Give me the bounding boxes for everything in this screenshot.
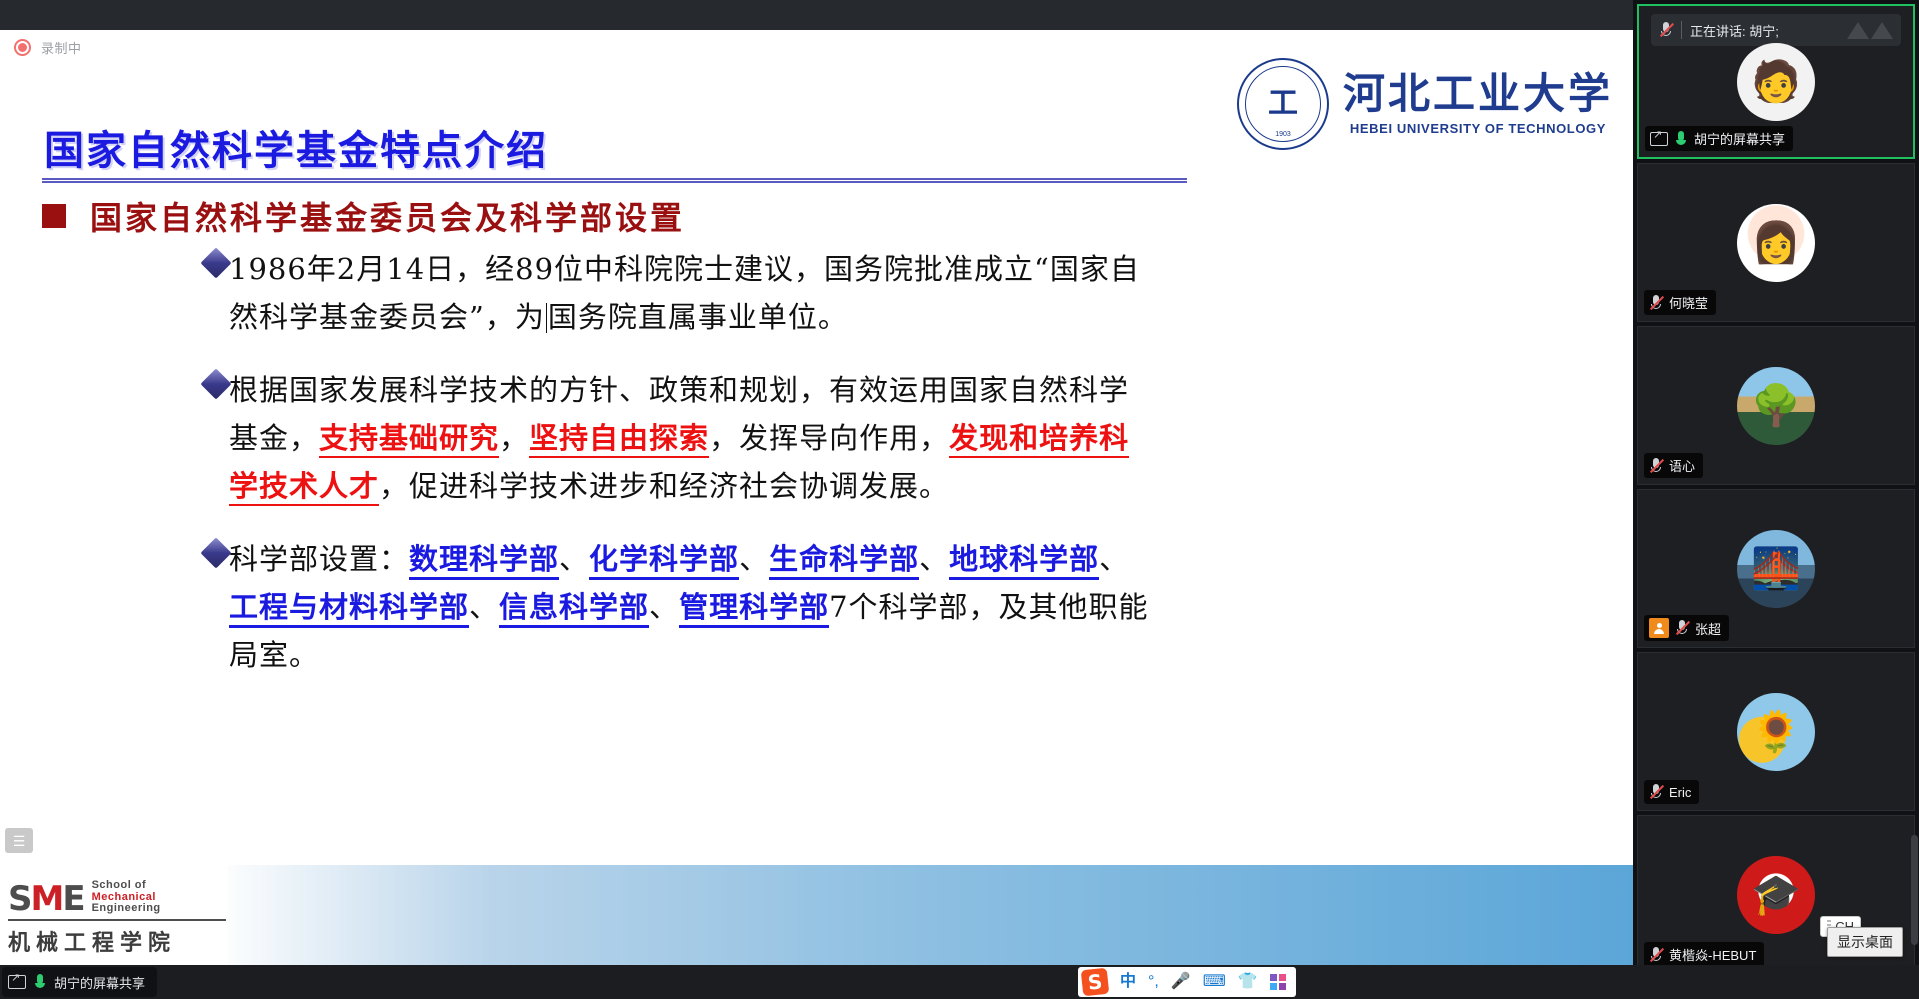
participant-tile[interactable]: 🌳语心 [1637,326,1915,485]
university-seal-icon: 工 1903 [1237,58,1329,150]
sme-letter-s: S [8,879,31,919]
section-heading: 国家自然科学基金委员会及科学部设置 [42,193,685,239]
participant-name-chip: 张超 [1644,615,1729,641]
menu-lines-icon: ☰ [13,834,26,848]
microphone-muted-icon [1649,783,1663,801]
bullet-text: 根据国家发展科学技术的方针、政策和规划，有效运用国家自然科学基金，支持基础研究，… [229,366,1155,510]
participant-name-chip: 黄楷焱-HEBUT [1644,942,1764,967]
microphone-muted-icon [1659,21,1673,39]
university-logo: 工 1903 河北工业大学 HEBEI UNIVERSITY OF TECHNO… [1237,58,1613,150]
participant-tile[interactable]: 正在讲话: 胡宁;🧑胡宁的屏幕共享 [1637,4,1915,159]
avatar-glyph: 🧑 [1737,43,1815,121]
university-name-cn: 河北工业大学 [1343,72,1613,116]
school-logo: SME School of Mechanical Engineering 机械工… [8,880,226,957]
emphasis-blue-link: 地球科学部 [949,542,1099,580]
participant-name-chip: Eric [1644,780,1699,804]
university-name-en: HEBEI UNIVERSITY OF TECHNOLOGY [1350,121,1606,136]
avatar: 👩 [1737,204,1815,282]
ime-skin-icon[interactable]: 👕 [1238,974,1258,990]
participant-name: 胡宁的屏幕共享 [1694,129,1785,148]
plain-text: 国务院直属事业单位。 [548,300,848,334]
emphasis-blue-link: 化学科学部 [589,542,739,580]
rail-scrollbar[interactable] [1911,835,1918,945]
participant-tile[interactable]: 🌉张超 [1637,489,1915,648]
bullet-2: 根据国家发展科学技术的方针、政策和规划，有效运用国家自然科学基金，支持基础研究，… [205,366,1155,510]
taskbar[interactable]: 胡宁的屏幕共享 S 中 °, 🎤 ⌨ 👕 [0,965,1919,999]
microphone-muted-icon [1649,457,1663,475]
sme-letter-e: E [62,879,83,919]
emphasis-red-text: 坚持自由探索 [529,421,709,458]
avatar: 🎓 [1737,856,1815,934]
participant-name: 黄楷焱-HEBUT [1669,945,1756,964]
screen-share-icon [1650,132,1668,146]
avatar: 🌻 [1737,693,1815,771]
sogou-logo-icon[interactable]: S [1081,968,1110,997]
participant-tile[interactable]: 🌻Eric [1637,652,1915,811]
plain-text: ， [499,421,529,455]
screen: 录制中 工 1903 河北工业大学 HEBEI UNIVERSITY OF TE… [0,0,1919,999]
plain-text: 、 [1099,542,1129,576]
plain-text: 、 [649,590,679,624]
participant-name-chip: 语心 [1644,453,1703,478]
sme-letter-m: M [31,879,63,919]
participant-tile[interactable]: 👩何晓莹 [1637,163,1915,322]
plain-text: ，发挥导向作用， [709,421,949,455]
speaking-banner: 正在讲话: 胡宁; [1651,14,1901,46]
bullet-text: 1986年2月14日，经89位中科院院士建议，国务院批准成立“国家自然科学基金委… [229,245,1155,341]
diamond-bullet-icon [200,537,231,568]
ime-mode-icon[interactable]: 中 [1120,974,1136,990]
emphasis-red-text: 支持基础研究 [319,421,499,458]
section-heading-text: 国家自然科学基金委员会及科学部设置 [90,193,685,239]
plain-text: ，促进科学技术进步和经济社会协调发展。 [379,469,949,503]
audio-wave-icon [1847,22,1893,39]
speaking-label: 正在讲话: 胡宁; [1690,21,1779,40]
sogou-ime-toolbar[interactable]: S 中 °, 🎤 ⌨ 👕 [1078,967,1296,997]
microphone-muted-icon [1649,294,1663,312]
recording-indicator: 录制中 [14,38,82,57]
text-cursor [546,303,547,333]
participant-rail[interactable]: 正在讲话: 胡宁;🧑胡宁的屏幕共享👩何晓莹🌳语心🌉张超🌻Eric🎓黄楷焱-HEB… [1633,0,1919,965]
microphone-muted-icon [1649,946,1663,964]
sme-monogram-icon: SME [8,882,84,916]
microphone-muted-icon [1675,619,1689,637]
microphone-icon [33,973,47,991]
school-line-3: Engineering [92,903,161,914]
plain-text: 、 [919,542,949,576]
seal-year-text: 1903 [1239,131,1327,138]
slide-title: 国家自然科学基金特点介绍 [44,118,548,176]
diamond-bullet-icon [200,368,231,399]
participant-name-chip: 何晓莹 [1644,290,1716,315]
window-top-strip [0,0,1633,30]
slide-footer-band [0,865,1633,965]
emphasis-blue-link: 工程与材料科学部 [229,590,469,628]
participant-name: Eric [1669,785,1691,800]
participant-name-chip: 胡宁的屏幕共享 [1645,126,1793,151]
avatar: 🌉 [1737,530,1815,608]
plain-text: 、 [469,590,499,624]
taskbar-item-label: 胡宁的屏幕共享 [54,973,145,992]
divider [1681,21,1682,39]
plain-text: 科学部设置： [229,542,409,576]
slide-body: 1986年2月14日，经89位中科院院士建议，国务院批准成立“国家自然科学基金委… [205,245,1155,704]
avatar-glyph: 🌻 [1737,693,1815,771]
emphasis-blue-link: 数理科学部 [409,542,559,580]
microphone-icon [1674,130,1688,148]
ime-apps-icon[interactable] [1270,974,1286,990]
plain-text: 、 [739,542,769,576]
emphasis-blue-link: 信息科学部 [499,590,649,628]
presentation-menu-button[interactable]: ☰ [5,828,33,853]
seal-mark-text: 工 [1268,89,1298,119]
participant-name: 语心 [1669,456,1695,475]
bullet-text: 科学部设置：数理科学部、化学科学部、生命科学部、地球科学部、工程与材料科学部、信… [229,535,1155,679]
avatar-glyph: 🎓 [1737,856,1815,934]
show-desktop-tooltip: 显示桌面 [1827,927,1903,957]
school-name-cn: 机械工程学院 [8,919,226,957]
ime-keyboard-icon[interactable]: ⌨ [1203,974,1226,990]
taskbar-item-screenshare[interactable]: 胡宁的屏幕共享 [2,967,157,997]
title-divider [42,178,1187,183]
participant-name: 张超 [1695,619,1721,638]
avatar-glyph: 🌳 [1737,367,1815,445]
school-line-1: School of [92,880,161,891]
emphasis-blue-link: 管理科学部 [679,590,829,628]
record-dot-icon [14,39,31,56]
avatar-glyph: 🌉 [1737,530,1815,608]
ime-punctuation-icon[interactable]: °, [1148,974,1159,990]
host-badge-icon [1649,618,1669,638]
diamond-bullet-icon [200,247,231,278]
avatar: 🧑 [1737,43,1815,121]
screen-share-icon [8,975,26,989]
shared-slide-canvas[interactable]: 录制中 工 1903 河北工业大学 HEBEI UNIVERSITY OF TE… [0,30,1633,965]
bullet-3: 科学部设置：数理科学部、化学科学部、生命科学部、地球科学部、工程与材料科学部、信… [205,535,1155,679]
bullet-1: 1986年2月14日，经89位中科院院士建议，国务院批准成立“国家自然科学基金委… [205,245,1155,341]
ime-voice-icon[interactable]: 🎤 [1171,974,1191,990]
square-bullet-icon [42,204,66,228]
emphasis-blue-link: 生命科学部 [769,542,919,580]
avatar-glyph: 👩 [1737,204,1815,282]
participant-name: 何晓莹 [1669,293,1708,312]
avatar: 🌳 [1737,367,1815,445]
plain-text: 、 [559,542,589,576]
recording-label: 录制中 [41,38,82,57]
